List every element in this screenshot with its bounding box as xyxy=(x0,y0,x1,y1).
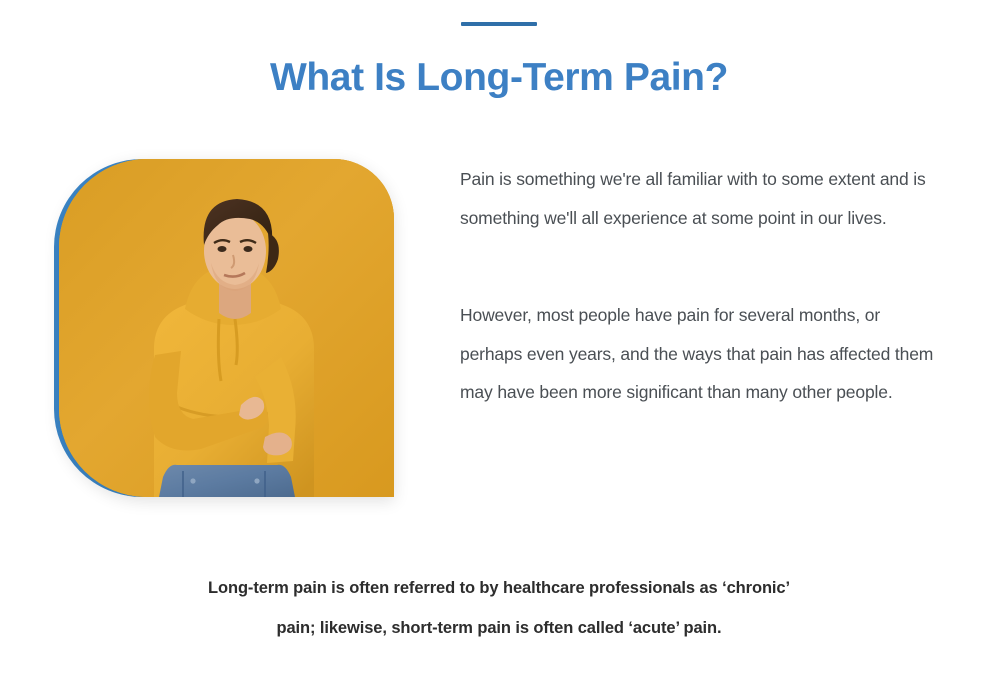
body-paragraph-2: However, most people have pain for sever… xyxy=(460,296,942,413)
footer-statement: Long-term pain is often referred to by h… xyxy=(0,568,998,649)
photo-background xyxy=(59,159,394,497)
body-paragraph-1: Pain is something we're all familiar wit… xyxy=(460,160,942,238)
body-text-column: Pain is something we're all familiar wit… xyxy=(460,160,942,412)
hand-on-crutch xyxy=(263,432,292,455)
media-image-card xyxy=(59,159,394,497)
person-with-crutch-illustration xyxy=(59,159,394,497)
footer-statement-line-1: Long-term pain is often referred to by h… xyxy=(0,568,998,608)
title-divider-rule xyxy=(461,22,537,26)
page-title: What Is Long-Term Pain? xyxy=(0,56,998,101)
jeans xyxy=(159,465,295,497)
page-root: What Is Long-Term Pain? xyxy=(0,0,998,677)
content-row: Pain is something we're all familiar wit… xyxy=(0,152,998,512)
footer-statement-line-2: pain; likewise, short-term pain is often… xyxy=(0,608,998,648)
section-heading-block: What Is Long-Term Pain? xyxy=(0,0,998,101)
media-figure xyxy=(54,159,394,497)
